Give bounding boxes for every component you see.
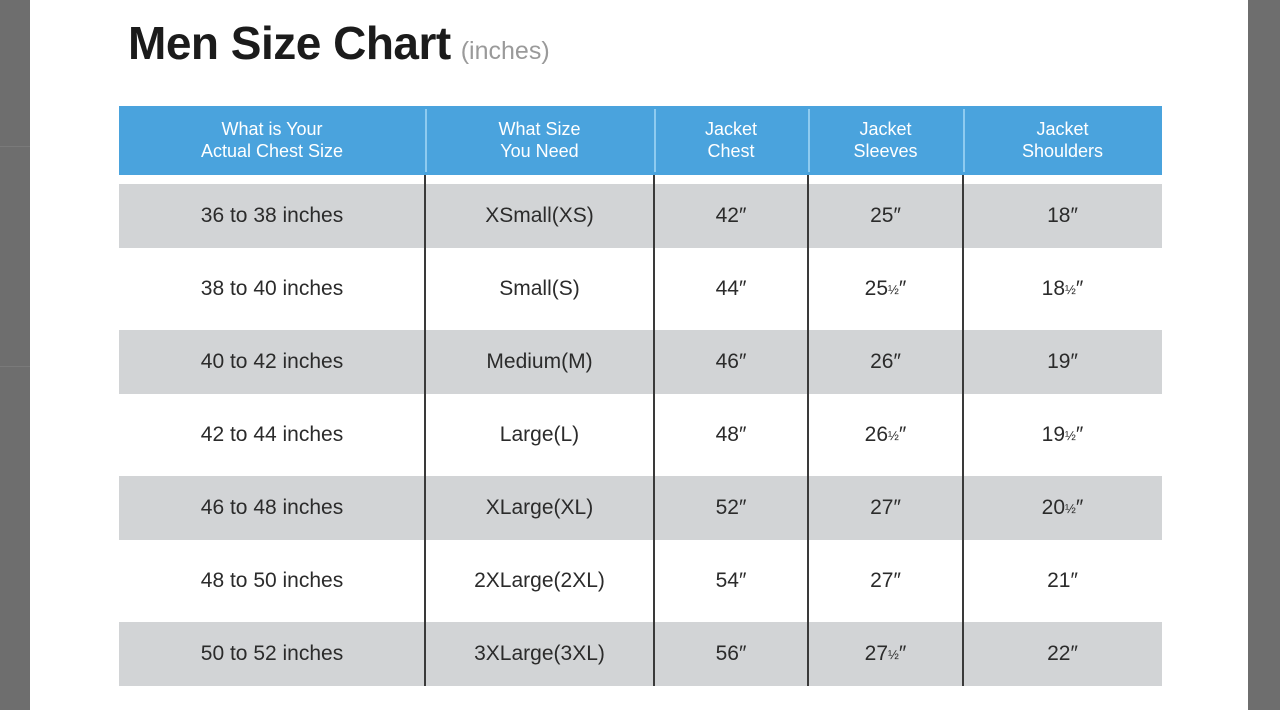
table-cell-jacket-sleeves: 25″	[808, 184, 963, 248]
table-header-cell: JacketChest	[654, 106, 808, 175]
measure-unit: ″	[1070, 642, 1077, 666]
row-gap	[119, 613, 1162, 622]
size-chart-page: Men Size Chart (inches) What is YourActu…	[0, 0, 1280, 710]
table-header-line1: Jacket	[1036, 119, 1088, 141]
cell-text: XSmall(XS)	[485, 204, 594, 228]
measure-whole: 18	[1047, 204, 1070, 228]
table-cell-jacket-shoulders: 20½″	[963, 476, 1162, 540]
table-header-cell: What SizeYou Need	[425, 106, 654, 175]
cell-text: 42 to 44 inches	[201, 423, 343, 447]
row-gap	[119, 175, 1162, 184]
measure-unit: ″	[1076, 423, 1083, 447]
table-row: 48 to 50 inches2XLarge(2XL)54″27″21″	[119, 549, 1162, 613]
cell-text: 36 to 38 inches	[201, 204, 343, 228]
measure-unit: ″	[893, 350, 900, 374]
table-cell-chest-range: 40 to 42 inches	[119, 330, 425, 394]
page-title-units: (inches)	[461, 39, 550, 64]
table-cell-jacket-shoulders: 18″	[963, 184, 1162, 248]
cell-text: 48 to 50 inches	[201, 569, 343, 593]
table-header-line1: Jacket	[859, 119, 911, 141]
measure-unit: ″	[899, 642, 906, 666]
measure-unit: ″	[893, 496, 900, 520]
table-row: 38 to 40 inchesSmall(S)44″25½″18½″	[119, 257, 1162, 321]
measure-fraction: ½	[1065, 501, 1076, 516]
table-cell-jacket-chest: 44″	[654, 257, 808, 321]
table-cell-jacket-sleeves: 25½″	[808, 257, 963, 321]
measure-whole: 20	[1042, 496, 1065, 520]
table-cell-jacket-sleeves: 27″	[808, 549, 963, 613]
measure-whole: 19	[1042, 423, 1065, 447]
table-cell-jacket-shoulders: 22″	[963, 622, 1162, 686]
table-cell-jacket-chest: 56″	[654, 622, 808, 686]
measure-fraction: ½	[1065, 428, 1076, 443]
table-cell-jacket-shoulders: 19½″	[963, 403, 1162, 467]
table-row: 50 to 52 inches3XLarge(3XL)56″27½″22″	[119, 622, 1162, 686]
cell-text: 54″	[716, 569, 747, 593]
table-cell-chest-range: 38 to 40 inches	[119, 257, 425, 321]
cell-text: 42″	[716, 204, 747, 228]
cell-text: 46″	[716, 350, 747, 374]
measure-whole: 22	[1047, 642, 1070, 666]
measure-whole: 27	[870, 496, 893, 520]
table-row: 46 to 48 inchesXLarge(XL)52″27″20½″	[119, 476, 1162, 540]
cell-text: 52″	[716, 496, 747, 520]
measure-whole: 26	[865, 423, 888, 447]
table-cell-jacket-sleeves: 26″	[808, 330, 963, 394]
cell-text: 40 to 42 inches	[201, 350, 343, 374]
table-cell-size: XSmall(XS)	[425, 184, 654, 248]
measure-fraction: ½	[1065, 282, 1076, 297]
page-title-main: Men Size Chart	[128, 20, 451, 66]
measure-unit: ″	[1070, 350, 1077, 374]
row-gap	[119, 467, 1162, 476]
table-header-line1: What Size	[498, 119, 580, 141]
table-row: 42 to 44 inchesLarge(L)48″26½″19½″	[119, 403, 1162, 467]
cell-text: 50 to 52 inches	[201, 642, 343, 666]
measure-fraction: ½	[888, 647, 899, 662]
table-cell-chest-range: 48 to 50 inches	[119, 549, 425, 613]
measure-unit: ″	[1076, 277, 1083, 301]
table-cell-jacket-chest: 48″	[654, 403, 808, 467]
table-cell-jacket-sleeves: 26½″	[808, 403, 963, 467]
table-cell-size: Medium(M)	[425, 330, 654, 394]
table-header-cell: What is YourActual Chest Size	[119, 106, 425, 175]
table-cell-jacket-sleeves: 27½″	[808, 622, 963, 686]
measure-fraction: ½	[888, 428, 899, 443]
table-header-row: What is YourActual Chest SizeWhat SizeYo…	[119, 106, 1162, 175]
measure-whole: 27	[870, 569, 893, 593]
measure-whole: 25	[865, 277, 888, 301]
letterbox-bar-right	[1248, 0, 1280, 710]
table-row: 40 to 42 inchesMedium(M)46″26″19″	[119, 330, 1162, 394]
table-header-cell: JacketSleeves	[808, 106, 963, 175]
row-gap	[119, 321, 1162, 330]
table-cell-size: 2XLarge(2XL)	[425, 549, 654, 613]
cell-text: 38 to 40 inches	[201, 277, 343, 301]
cell-text: 56″	[716, 642, 747, 666]
row-gap	[119, 394, 1162, 403]
measure-unit: ″	[1076, 496, 1083, 520]
table-header-cell: JacketShoulders	[963, 106, 1162, 175]
measure-unit: ″	[899, 423, 906, 447]
measure-whole: 19	[1047, 350, 1070, 374]
table-cell-jacket-chest: 52″	[654, 476, 808, 540]
table-cell-size: Small(S)	[425, 257, 654, 321]
cell-text: 44″	[716, 277, 747, 301]
table-cell-chest-range: 36 to 38 inches	[119, 184, 425, 248]
page-title: Men Size Chart (inches)	[128, 20, 550, 66]
cell-text: 2XLarge(2XL)	[474, 569, 605, 593]
cell-text: 48″	[716, 423, 747, 447]
table-header-line2: Chest	[707, 141, 754, 163]
measure-unit: ″	[893, 204, 900, 228]
table-cell-jacket-shoulders: 18½″	[963, 257, 1162, 321]
size-chart-table: What is YourActual Chest SizeWhat SizeYo…	[119, 106, 1162, 686]
cell-text: XLarge(XL)	[486, 496, 593, 520]
measure-whole: 26	[870, 350, 893, 374]
table-cell-chest-range: 50 to 52 inches	[119, 622, 425, 686]
row-gap	[119, 540, 1162, 549]
table-header-line2: Actual Chest Size	[201, 141, 343, 163]
table-cell-jacket-shoulders: 21″	[963, 549, 1162, 613]
cell-text: Medium(M)	[486, 350, 592, 374]
table-cell-chest-range: 42 to 44 inches	[119, 403, 425, 467]
measure-unit: ″	[1070, 569, 1077, 593]
table-header-line1: What is Your	[221, 119, 322, 141]
table-cell-size: Large(L)	[425, 403, 654, 467]
table-row: 36 to 38 inchesXSmall(XS)42″25″18″	[119, 184, 1162, 248]
measure-unit: ″	[899, 277, 906, 301]
table-cell-jacket-chest: 46″	[654, 330, 808, 394]
cell-text: Small(S)	[499, 277, 580, 301]
table-header-line2: Shoulders	[1022, 141, 1103, 163]
table-cell-jacket-sleeves: 27″	[808, 476, 963, 540]
table-cell-jacket-shoulders: 19″	[963, 330, 1162, 394]
row-gap	[119, 248, 1162, 257]
table-cell-jacket-chest: 54″	[654, 549, 808, 613]
measure-unit: ″	[893, 569, 900, 593]
table-cell-chest-range: 46 to 48 inches	[119, 476, 425, 540]
table-header-line2: Sleeves	[853, 141, 917, 163]
measure-unit: ″	[1070, 204, 1077, 228]
cell-text: 46 to 48 inches	[201, 496, 343, 520]
cell-text: 3XLarge(3XL)	[474, 642, 605, 666]
measure-whole: 18	[1042, 277, 1065, 301]
measure-whole: 21	[1047, 569, 1070, 593]
cell-text: Large(L)	[500, 423, 579, 447]
measure-whole: 27	[865, 642, 888, 666]
table-cell-jacket-chest: 42″	[654, 184, 808, 248]
table-header-line1: Jacket	[705, 119, 757, 141]
measure-whole: 25	[870, 204, 893, 228]
table-body: 36 to 38 inchesXSmall(XS)42″25″18″38 to …	[119, 175, 1162, 686]
table-header-line2: You Need	[500, 141, 578, 163]
table-cell-size: XLarge(XL)	[425, 476, 654, 540]
table-cell-size: 3XLarge(3XL)	[425, 622, 654, 686]
measure-fraction: ½	[888, 282, 899, 297]
letterbox-bar-left	[0, 0, 30, 710]
